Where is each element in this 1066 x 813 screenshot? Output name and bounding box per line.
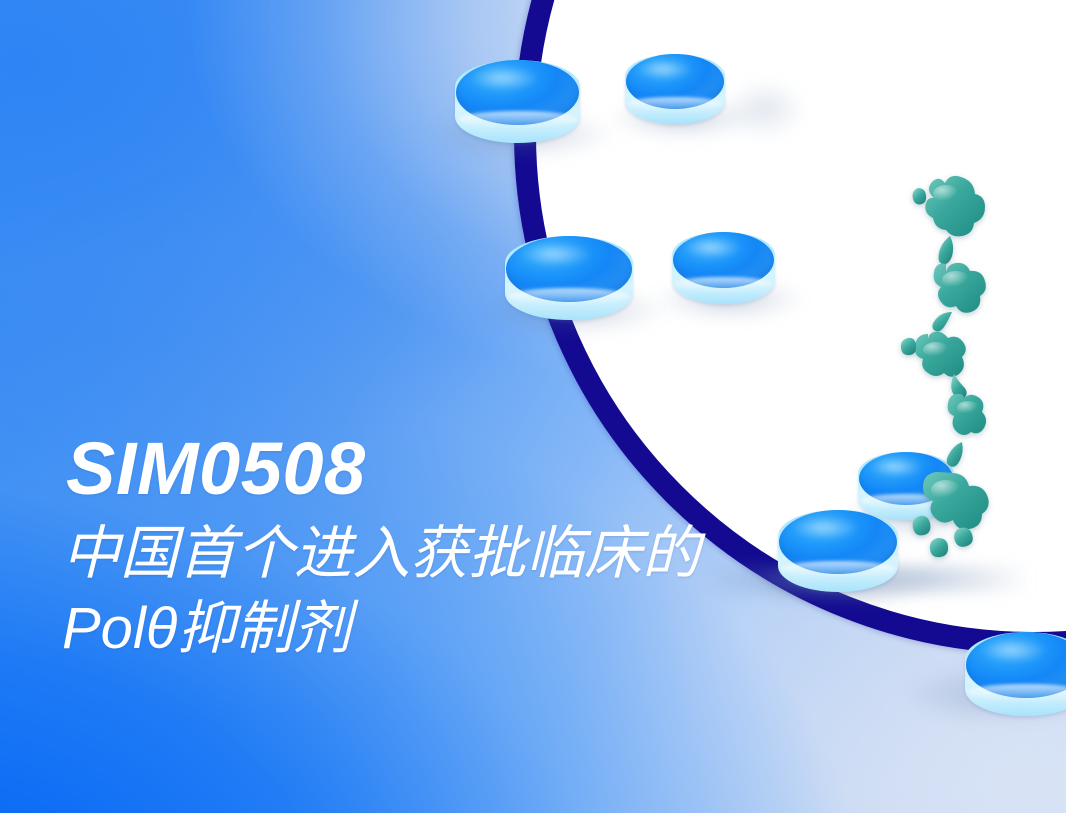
poster-canvas: SIM0508 中国首个进入获批临床的 Polθ抑制剂	[0, 0, 1066, 813]
tablet-gloss	[792, 516, 859, 541]
subtitle-line-1: 中国首个进入获批临床的	[62, 516, 700, 591]
tablet-gloss	[637, 59, 693, 80]
protein-structure-icon	[888, 160, 1016, 580]
tablet-bottom-right	[965, 632, 1066, 716]
tablet-rim	[780, 561, 895, 577]
subtitle-line-2: Polθ抑制剂	[62, 591, 700, 666]
page-title: SIM0508	[66, 432, 700, 506]
tablet-gloss	[684, 237, 742, 259]
tablet-mid-left	[505, 236, 633, 320]
tablet-rim	[458, 111, 578, 128]
tablet-rim	[508, 288, 631, 305]
tablet-mid-right	[672, 232, 775, 304]
tablet-gloss	[520, 242, 592, 267]
tablet-rim	[674, 277, 773, 291]
tablet-gloss	[980, 638, 1048, 663]
page-subtitle: 中国首个进入获批临床的 Polθ抑制剂	[62, 516, 700, 667]
tablet-top-left	[455, 60, 580, 143]
tablet-gloss	[470, 66, 540, 91]
tablet-rim	[967, 684, 1066, 701]
tablet-lower-left	[778, 510, 898, 592]
tablet-ghost-shadow	[724, 78, 806, 140]
tablet-top-right	[625, 54, 725, 124]
headline-block: SIM0508 中国首个进入获批临床的 Polθ抑制剂	[62, 432, 700, 667]
